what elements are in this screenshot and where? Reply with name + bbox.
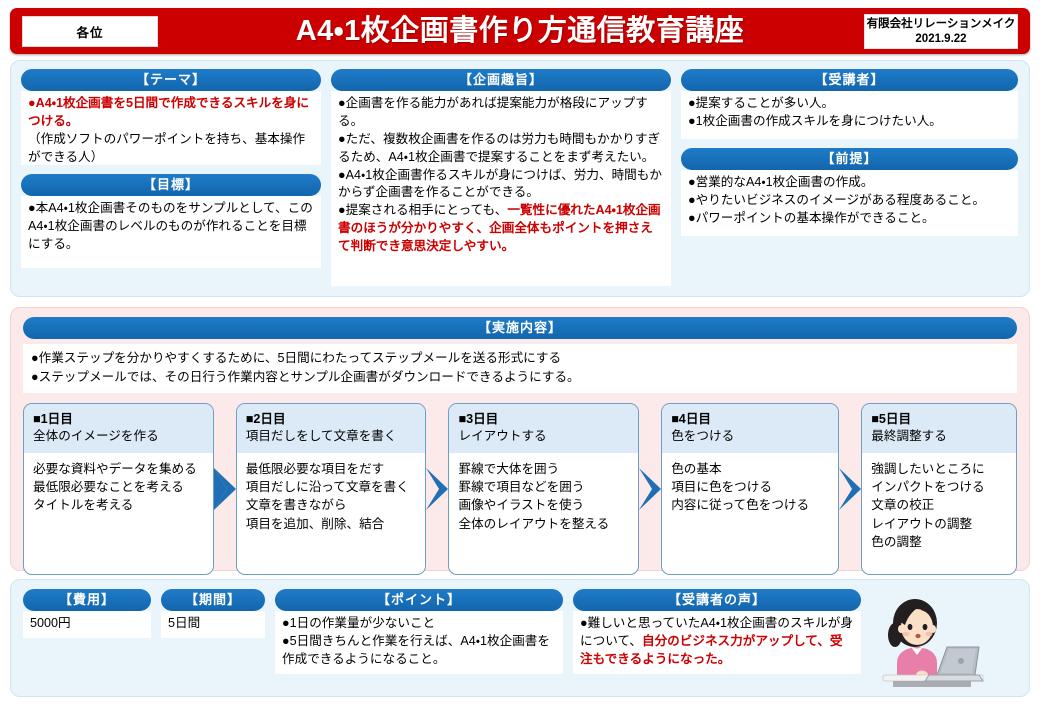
step-header: ■4日目 色をつける [662, 404, 838, 453]
proposal-heading: 【企画趣旨】 [331, 69, 671, 91]
step-task: 文章の校正 [871, 496, 1007, 514]
point-item: ●5日間きちんと作業を行えば、A4・1枚企画書を作成できるようになること。 [282, 633, 556, 669]
company-name: 有限会社リレーションメイク [867, 17, 1016, 31]
implementation-intro-line: ●ステップメールでは、その日行う作業内容とサンプル企画書がダウンロードできるよう… [31, 368, 1009, 387]
proposal-item-emphasis: ●提案される相手にとっても、一覧性に優れたA4・1枚企画書のほうが分かりやすく、… [338, 202, 664, 256]
audience-box: ●提案することが多い人。 ●1枚企画書の作成スキルを身につけたい人。 [681, 91, 1018, 139]
step-header: ■2日目 項目だしをして文章を書く [237, 404, 426, 453]
proposal-item: ●ただ、複数枚企画書を作るのは労力も時間もかかりすぎるため、A4・1枚企画書で提… [338, 131, 664, 167]
implementation-intro-line: ●作業ステップを分かりやすくするために、5日間にわたってステップメールを送る形式… [31, 349, 1009, 368]
column-proposal: 【企画趣旨】 ●企画書を作る能力があれば提案能力が格段にアップする。 ●ただ、複… [331, 69, 671, 286]
proposal-item: ●企画書を作る能力があれば提案能力が格段にアップする。 [338, 95, 664, 131]
goal-text: ●本A4・1枚企画書そのものをサンプルとして、このA4・1枚企画書のレベルのもの… [28, 200, 314, 254]
premise-item: ●営業的なA4・1枚企画書の作成。 [688, 174, 1011, 192]
step-task: インパクトをつける [871, 478, 1007, 496]
overview-section: 【テーマ】 ●A4・1枚企画書を5日間で作成できるスキルを身につける。 （作成ソ… [10, 60, 1030, 297]
flow-arrow-icon [639, 452, 661, 526]
cost-block: 【費用】 5000円 [23, 589, 151, 638]
step-card-day5: ■5日目 最終調整する 強調したいところに インパクトをつける 文章の校正 レイ… [861, 403, 1017, 575]
term-heading: 【期間】 [161, 589, 265, 611]
step-task-list: 罫線で大体を囲う 罫線で項目などを囲う 画像やイラストを使う 全体のレイアウトを… [449, 453, 638, 533]
document-header: 各位 A4・1枚企画書作り方通信教育講座 有限会社リレーションメイク 2021.… [10, 8, 1030, 54]
step-task: 色の基本 [671, 460, 829, 478]
theme-heading: 【テーマ】 [21, 69, 321, 91]
step-task: 最低限必要な項目をだす [246, 460, 417, 478]
step-title: レイアウトする [458, 428, 629, 445]
point-box: ●1日の作業量が少ないこと ●5日間きちんと作業を行えば、A4・1枚企画書を作成… [275, 611, 563, 674]
point-heading: 【ポイント】 [275, 589, 563, 611]
step-task: 項目を追加、削除、結合 [246, 515, 417, 533]
goal-heading: 【目標】 [21, 174, 321, 196]
step-title: 全体のイメージを作る [33, 428, 204, 445]
step-flow: ■1日目 全体のイメージを作る 必要な資料やデータを集める 最低限必要なことを考… [23, 403, 1017, 575]
column-audience-premise: 【受講者】 ●提案することが多い人。 ●1枚企画書の作成スキルを身につけたい人。… [681, 69, 1018, 286]
spacer [21, 165, 321, 174]
step-title: 色をつける [671, 428, 829, 445]
step-task: 色の調整 [871, 533, 1007, 551]
proposal-box: ●企画書を作る能力があれば提案能力が格段にアップする。 ●ただ、複数枚企画書を作… [331, 91, 671, 286]
woman-at-laptop-illustration [875, 591, 987, 687]
column-theme-goal: 【テーマ】 ●A4・1枚企画書を5日間で作成できるスキルを身につける。 （作成ソ… [21, 69, 321, 286]
term-block: 【期間】 5日間 [161, 589, 265, 638]
step-task: レイアウトの調整 [871, 515, 1007, 533]
cost-value: 5000円 [23, 611, 151, 638]
step-header: ■3日目 レイアウトする [449, 404, 638, 453]
premise-box: ●営業的なA4・1枚企画書の作成。 ●やりたいビジネスのイメージがある程度あるこ… [681, 170, 1018, 236]
flow-arrow-icon [426, 452, 448, 526]
step-day-label: ■1日目 [33, 411, 204, 428]
implementation-section: 【実施内容】 ●作業ステップを分かりやすくするために、5日間にわたってステップメ… [10, 307, 1030, 571]
voice-box: ●難しいと思っていたA4・1枚企画書のスキルが身について、自分のビジネス力がアッ… [573, 611, 861, 674]
step-card-day2: ■2日目 項目だしをして文章を書く 最低限必要な項目をだす 項目だしに沿って文章… [236, 403, 427, 575]
step-header: ■1日目 全体のイメージを作る [24, 404, 213, 453]
flow-arrow-icon [214, 452, 236, 526]
step-task: 最低限必要なことを考える [33, 478, 204, 496]
step-day-label: ■2日目 [246, 411, 417, 428]
step-task: 罫線で大体を囲う [458, 460, 629, 478]
flow-arrow-icon [839, 452, 861, 526]
step-day-label: ■4日目 [671, 411, 829, 428]
spacer [681, 139, 1018, 148]
premise-item: ●やりたいビジネスのイメージがある程度あること。 [688, 192, 1011, 210]
document-date: 2021.9.22 [915, 32, 966, 46]
audience-item: ●1枚企画書の作成スキルを身につけたい人。 [688, 113, 1011, 131]
step-day-label: ■5日目 [871, 411, 1007, 428]
step-task: 必要な資料やデータを集める [33, 460, 204, 478]
step-task: 項目だしに沿って文章を書く [246, 478, 417, 496]
premise-item: ●パワーポイントの基本操作ができること。 [688, 210, 1011, 228]
theme-black-line: （作成ソフトのパワーポイントを持ち、基本操作ができる人） [28, 131, 314, 167]
step-day-label: ■3日目 [458, 411, 629, 428]
step-task: 画像やイラストを使う [458, 496, 629, 514]
company-stamp: 有限会社リレーションメイク 2021.9.22 [864, 14, 1018, 49]
step-title: 項目だしをして文章を書く [246, 428, 417, 445]
step-card-day1: ■1日目 全体のイメージを作る 必要な資料やデータを集める 最低限必要なことを考… [23, 403, 214, 575]
step-header: ■5日目 最終調整する [862, 404, 1016, 453]
addressee-tag: 各位 [22, 16, 158, 47]
step-task-list: 必要な資料やデータを集める 最低限必要なことを考える タイトルを考える [24, 453, 213, 515]
step-task: 内容に従って色をつける [671, 496, 829, 514]
premise-heading: 【前提】 [681, 148, 1018, 170]
step-task: 全体のレイアウトを整える [458, 515, 629, 533]
term-value: 5日間 [161, 611, 265, 638]
goal-box: ●本A4・1枚企画書そのものをサンプルとして、このA4・1枚企画書のレベルのもの… [21, 196, 321, 268]
step-card-day4: ■4日目 色をつける 色の基本 項目に色をつける 内容に従って色をつける [661, 403, 839, 575]
point-block: 【ポイント】 ●1日の作業量が少ないこと ●5日間きちんと作業を行えば、A4・1… [275, 589, 563, 674]
step-task: 文章を書きながら [246, 496, 417, 514]
proposal-lead-text: ●提案される相手にとっても、 [338, 203, 507, 217]
step-task-list: 強調したいところに インパクトをつける 文章の校正 レイアウトの調整 色の調整 [862, 453, 1016, 551]
implementation-heading: 【実施内容】 [23, 317, 1017, 339]
step-card-day3: ■3日目 レイアウトする 罫線で大体を囲う 罫線で項目などを囲う 画像やイラスト… [448, 403, 639, 575]
audience-item: ●提案することが多い人。 [688, 95, 1011, 113]
proposal-item: ●A4・1枚企画書作るスキルが身につけば、労力、時間もかからず企画書を作ることが… [338, 167, 664, 203]
audience-heading: 【受講者】 [681, 69, 1018, 91]
step-task-list: 最低限必要な項目をだす 項目だしに沿って文章を書く 文章を書きながら 項目を追加… [237, 453, 426, 533]
step-task: 項目に色をつける [671, 478, 829, 496]
step-task: タイトルを考える [33, 496, 204, 514]
step-task-list: 色の基本 項目に色をつける 内容に従って色をつける [662, 453, 838, 515]
document-page: 各位 A4・1枚企画書作り方通信教育講座 有限会社リレーションメイク 2021.… [0, 8, 1040, 728]
point-item: ●1日の作業量が少ないこと [282, 615, 556, 633]
step-title: 最終調整する [871, 428, 1007, 445]
step-task: 罫線で項目などを囲う [458, 478, 629, 496]
cost-heading: 【費用】 [23, 589, 151, 611]
implementation-intro: ●作業ステップを分かりやすくするために、5日間にわたってステップメールを送る形式… [23, 344, 1017, 393]
step-task: 強調したいところに [871, 460, 1007, 478]
summary-section: 【費用】 5000円 【期間】 5日間 【ポイント】 ●1日の作業量が少ないこと… [10, 579, 1030, 697]
illustration-container [871, 589, 991, 687]
theme-red-line: ●A4・1枚企画書を5日間で作成できるスキルを身につける。 [28, 95, 314, 131]
voice-heading: 【受講者の声】 [573, 589, 861, 611]
theme-box: ●A4・1枚企画書を5日間で作成できるスキルを身につける。 （作成ソフトのパワー… [21, 91, 321, 165]
voice-block: 【受講者の声】 ●難しいと思っていたA4・1枚企画書のスキルが身について、自分の… [573, 589, 861, 674]
